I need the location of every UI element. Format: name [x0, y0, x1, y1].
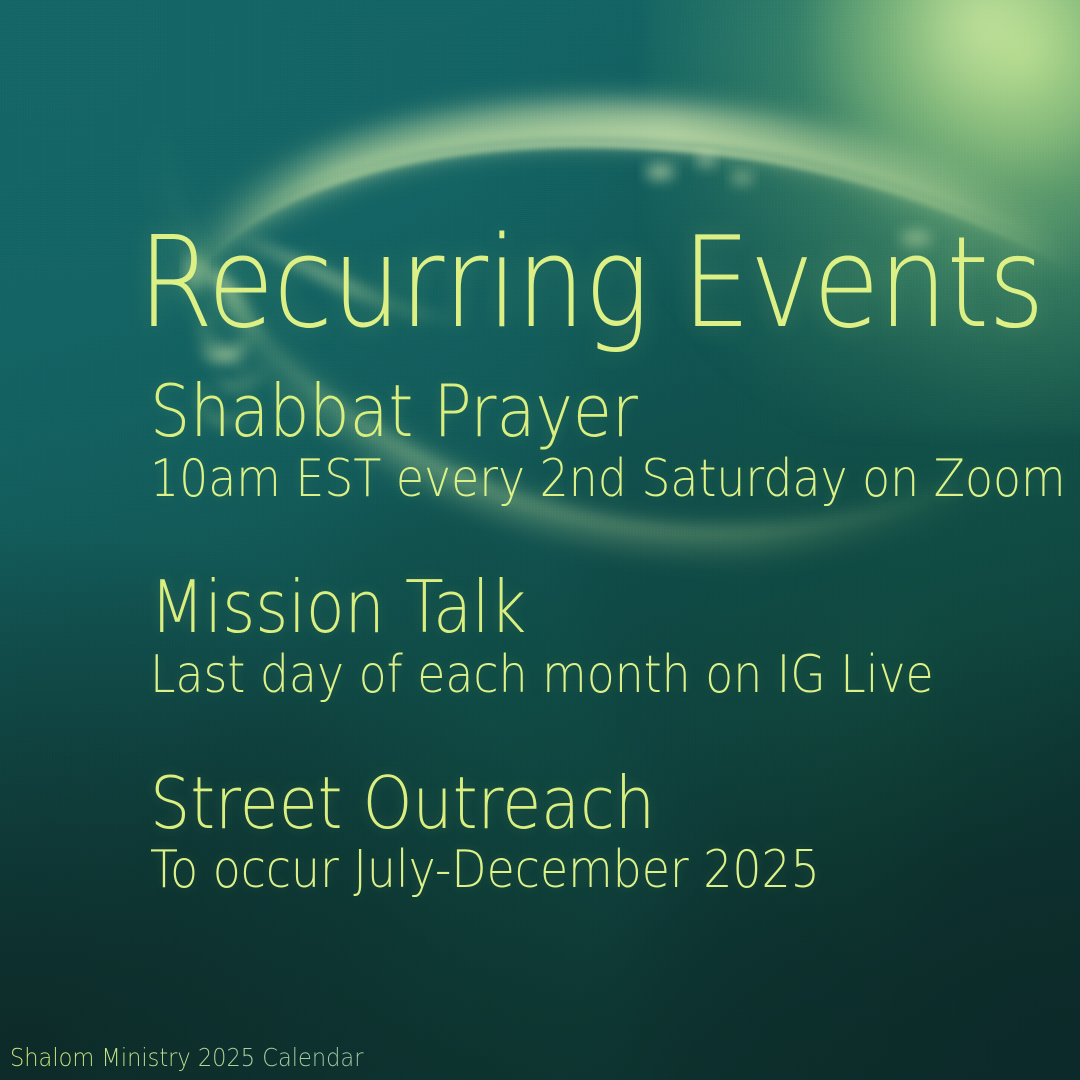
event-title: Mission Talk [150, 574, 924, 642]
event-item: Street Outreach To occur July-December 2… [150, 770, 1030, 900]
event-item: Mission Talk Last day of each month on I… [150, 574, 1030, 704]
events-list: Shabbat Prayer 10am EST every 2nd Saturd… [150, 378, 1030, 900]
content-layer: Recurring Events Shabbat Prayer 10am EST… [0, 0, 1080, 1080]
event-title: Shabbat Prayer [150, 378, 924, 446]
poster-canvas: Recurring Events Shabbat Prayer 10am EST… [0, 0, 1080, 1080]
page-title: Recurring Events [138, 220, 1044, 346]
event-detail: To occur July-December 2025 [150, 841, 924, 899]
event-title: Street Outreach [150, 770, 924, 838]
footer-credit: Shalom Ministry 2025 Calendar [10, 1043, 363, 1072]
event-detail: Last day of each month on IG Live [150, 646, 924, 704]
event-detail: 10am EST every 2nd Saturday on Zoom [150, 450, 924, 508]
event-item: Shabbat Prayer 10am EST every 2nd Saturd… [150, 378, 1030, 508]
